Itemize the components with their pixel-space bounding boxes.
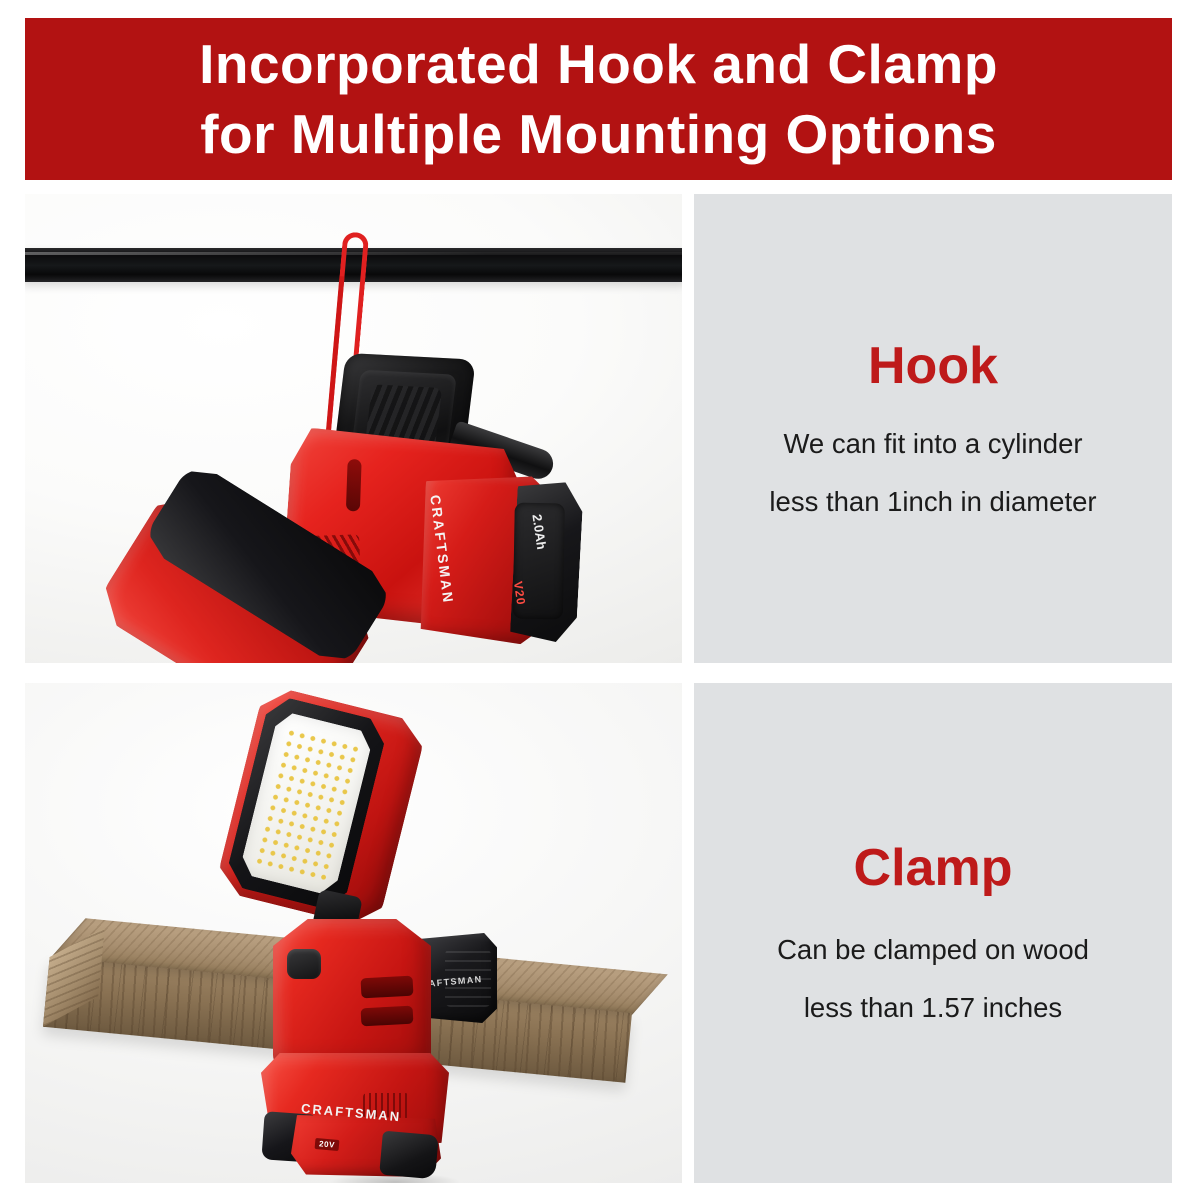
hook-product-photo: CRAFTSMAN 2.0Ah V20 — [25, 194, 682, 663]
feature-title-hook: Hook — [868, 340, 998, 392]
clamp-photo-panel: CRAFTSMAN CRAFTSMAN 20V — [25, 683, 682, 1183]
feature-line: We can fit into a cylinder — [783, 428, 1082, 460]
power-button[interactable] — [287, 949, 321, 979]
header-banner: Incorporated Hook and Clamp for Multiple… — [25, 18, 1172, 180]
hook-text-panel: Hook We can fit into a cylinder less tha… — [694, 194, 1172, 663]
body-grip-slot — [361, 976, 414, 999]
work-light-hanging: CRAFTSMAN 2.0Ah V20 — [155, 323, 604, 663]
feature-title-clamp: Clamp — [854, 842, 1013, 894]
banner-headline-line-1: Incorporated Hook and Clamp — [199, 30, 998, 98]
feature-line: Can be clamped on wood — [777, 934, 1089, 966]
battery-voltage-label: 20V — [315, 1138, 340, 1151]
body-grip-slot — [361, 1006, 414, 1027]
product-feature-graphic: Incorporated Hook and Clamp for Multiple… — [0, 0, 1200, 1200]
hook-photo-panel: CRAFTSMAN 2.0Ah V20 — [25, 194, 682, 663]
banner-headline-line-2: for Multiple Mounting Options — [200, 100, 997, 168]
feature-description-hook: We can fit into a cylinder less than 1in… — [694, 428, 1172, 517]
battery-pack: CRAFTSMAN 2.0Ah V20 — [418, 471, 587, 647]
clamp-product-photo: CRAFTSMAN CRAFTSMAN 20V — [25, 683, 682, 1183]
clamp-text-panel: Clamp Can be clamped on wood less than 1… — [694, 683, 1172, 1183]
led-array — [254, 726, 360, 880]
feature-line: less than 1inch in diameter — [769, 486, 1096, 518]
feature-line: less than 1.57 inches — [804, 992, 1062, 1024]
work-light-clamped: CRAFTSMAN CRAFTSMAN 20V — [195, 701, 495, 1141]
housing-slot — [346, 459, 362, 511]
feature-description-clamp: Can be clamped on wood less than 1.57 in… — [694, 934, 1172, 1023]
